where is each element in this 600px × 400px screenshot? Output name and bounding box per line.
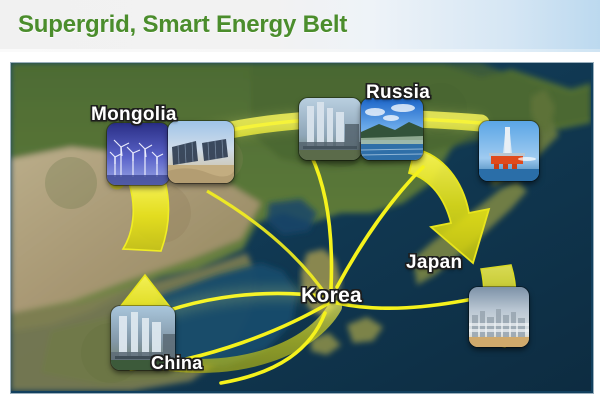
page-title: Supergrid, Smart Energy Belt	[18, 11, 347, 39]
thumbnail-power-plant[interactable]	[299, 98, 361, 160]
page-root: Supergrid, Smart Energy Belt	[0, 0, 600, 400]
map-figure: Mongolia Russia Japan Korea China	[10, 62, 594, 394]
thumbnail-solar-array[interactable]	[168, 121, 234, 183]
page-header: Supergrid, Smart Energy Belt	[0, 0, 600, 52]
thumbnail-city-skyline[interactable]	[469, 287, 529, 347]
thumbnail-industrial-plant[interactable]	[111, 306, 175, 370]
thumbnail-hydro-reservoir[interactable]	[361, 98, 423, 160]
thumbnail-offshore-rig[interactable]	[479, 121, 539, 181]
thumbnail-wind-farm[interactable]	[107, 123, 169, 185]
